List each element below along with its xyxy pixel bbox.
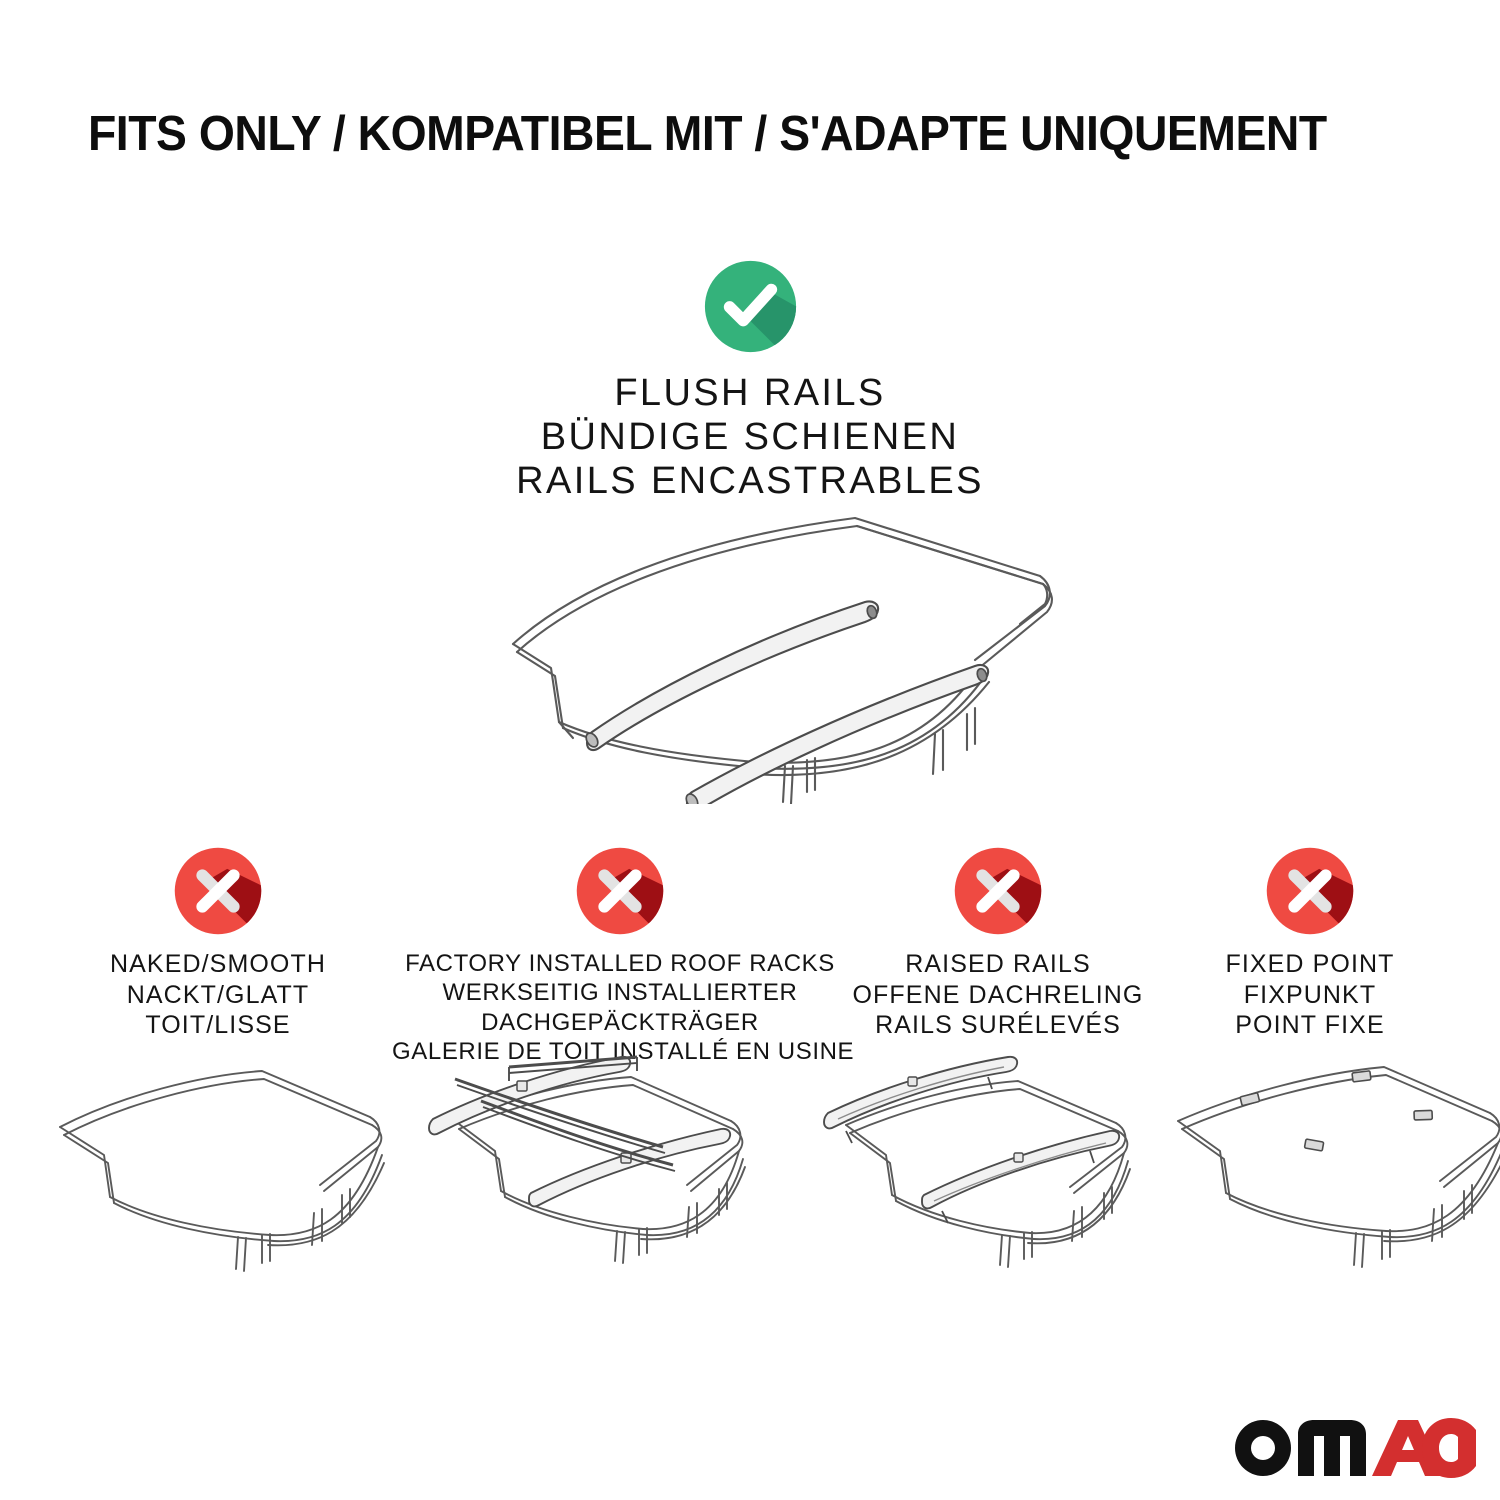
compatible-label: FLUSH RAILS BÜNDIGE SCHIENEN RAILS ENCAS… — [0, 371, 1500, 503]
incompatible-item-raised-rails: RAISED RAILS OFFENE DACHRELING RAILS SUR… — [838, 845, 1158, 1041]
incompatible-item-factory-roof-racks: FACTORY INSTALLED ROOF RACKS WERKSEITIG … — [392, 845, 848, 1066]
label-line-en: RAISED RAILS — [838, 949, 1158, 980]
red-x-circle-icon — [1264, 845, 1356, 937]
incompatible-label-raised-rails: RAISED RAILS OFFENE DACHRELING RAILS SUR… — [838, 949, 1158, 1041]
label-line-de-2: DACHGEPÄCKTRÄGER — [392, 1008, 848, 1037]
crossbar-mid — [455, 1079, 665, 1153]
label-line-de: OFFENE DACHRELING — [838, 980, 1158, 1011]
compatible-label-line-de: BÜNDIGE SCHIENEN — [0, 415, 1500, 459]
label-line-en: FACTORY INSTALLED ROOF RACKS — [392, 949, 848, 978]
label-line-fr: TOIT/LISSE — [48, 1010, 388, 1041]
car-roof-fixed-point-illustration — [1170, 1055, 1500, 1295]
car-roof-naked-smooth-illustration — [52, 1055, 412, 1295]
label-line-de-1: WERKSEITIG INSTALLIERTER — [392, 978, 848, 1007]
car-roof-factory-roof-racks-illustration — [425, 1055, 785, 1295]
roof-rail-rear — [429, 1057, 630, 1135]
label-line-en: FIXED POINT — [1152, 949, 1468, 980]
car-roof-with-flush-rails-illustration — [455, 492, 1075, 804]
label-line-fr: POINT FIXE — [1152, 1010, 1468, 1041]
incompatible-item-naked-smooth: NAKED/SMOOTH NACKT/GLATT TOIT/LISSE — [48, 845, 388, 1041]
green-check-circle-icon — [702, 258, 799, 355]
compatible-label-line-en: FLUSH RAILS — [0, 371, 1500, 415]
label-line-de: FIXPUNKT — [1152, 980, 1468, 1011]
compatible-section: FLUSH RAILS BÜNDIGE SCHIENEN RAILS ENCAS… — [0, 258, 1500, 503]
logo-letter-o — [1235, 1420, 1291, 1476]
incompatible-illustrations-row — [0, 1055, 1500, 1305]
incompatible-item-fixed-point: FIXED POINT FIXPUNKT POINT FIXE — [1152, 845, 1468, 1041]
car-roof-raised-rails-illustration — [812, 1055, 1172, 1295]
label-line-fr: RAILS SURÉLEVÉS — [838, 1010, 1158, 1041]
roof-rail-front — [529, 1129, 730, 1207]
label-line-en: NAKED/SMOOTH — [48, 949, 388, 980]
incompatible-label-naked-smooth: NAKED/SMOOTH NACKT/GLATT TOIT/LISSE — [48, 949, 388, 1041]
red-x-circle-icon — [952, 845, 1044, 937]
red-x-circle-icon — [574, 845, 666, 937]
omac-logo — [1232, 1412, 1476, 1478]
incompatible-label-fixed-point: FIXED POINT FIXPUNKT POINT FIXE — [1152, 949, 1468, 1041]
infographic-page: FITS ONLY / KOMPATIBEL MIT / S'ADAPTE UN… — [0, 0, 1500, 1500]
logo-letter-m — [1298, 1420, 1366, 1476]
incompatible-label-factory-roof-racks: FACTORY INSTALLED ROOF RACKS WERKSEITIG … — [392, 949, 848, 1066]
logo-letter-c — [1422, 1418, 1476, 1478]
red-x-circle-icon — [172, 845, 264, 937]
page-title: FITS ONLY / KOMPATIBEL MIT / S'ADAPTE UN… — [88, 110, 1354, 159]
label-line-de: NACKT/GLATT — [48, 980, 388, 1011]
raised-rail-front — [922, 1131, 1119, 1223]
